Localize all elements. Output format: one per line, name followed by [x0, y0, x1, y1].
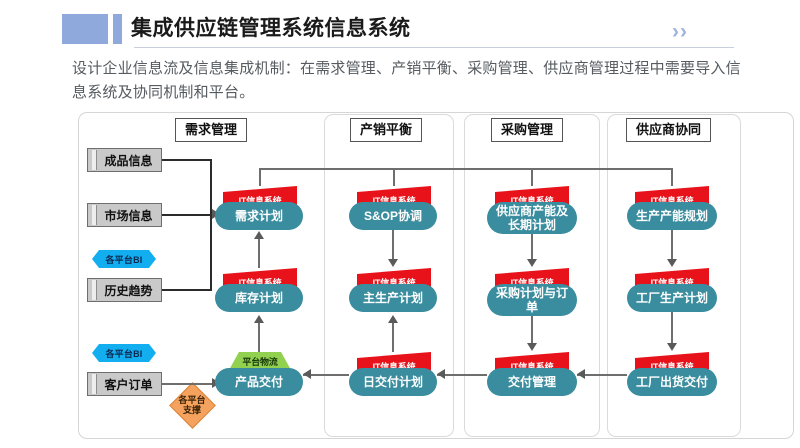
node-label: 需求计划	[215, 202, 303, 230]
node-production-capacity-plan[interactable]: IT信息系统 生产产能规划	[627, 186, 717, 230]
node-label: 供应商产能及长期计划	[487, 202, 577, 234]
node-sop-coordination[interactable]: IT信息系统 S&OP协调	[349, 186, 437, 230]
node-inventory-plan[interactable]: IT信息系统 库存计划	[215, 268, 303, 312]
source-box-finished-goods: 成品信息	[87, 148, 162, 172]
header-accent-block-large	[62, 14, 108, 44]
chevron-right-icon: ››	[672, 21, 688, 42]
support-diamond: 各平台 支撑	[170, 383, 214, 427]
column-header-2: 产销平衡	[350, 118, 422, 142]
node-label: 采购计划与订单	[487, 284, 577, 316]
source-box-history-trend: 历史趋势	[87, 278, 162, 302]
support-diamond-line2: 支撑	[183, 405, 201, 415]
header-divider	[134, 47, 734, 48]
node-label: 产品交付	[215, 368, 303, 396]
node-label: 工厂出货交付	[627, 368, 717, 396]
slide-root: 集成供应链管理系统信息系统 ›› 设计企业信息流及信息集成机制：在需求管理、产销…	[0, 0, 800, 448]
node-product-delivery[interactable]: 平台物流 产品交付	[215, 352, 303, 396]
node-daily-delivery-plan[interactable]: IT信息系统 日交付计划	[349, 352, 437, 396]
node-master-production-plan[interactable]: IT信息系统 主生产计划	[349, 268, 437, 312]
bi-tag-hexagon-1: 各平台BI	[92, 250, 156, 268]
header-accent-block-small	[113, 14, 122, 44]
node-purchase-plan-order[interactable]: IT信息系统 采购计划与订单	[487, 268, 577, 316]
node-label: 库存计划	[215, 284, 303, 312]
column-header-3: 采购管理	[491, 118, 563, 142]
bi-tag-hexagon-2: 各平台BI	[92, 344, 156, 362]
node-label: 交付管理	[487, 368, 577, 396]
subtitle-text: 设计企业信息流及信息集成机制：在需求管理、产销平衡、采购管理、供应商管理过程中需…	[72, 57, 752, 105]
node-label: 主生产计划	[349, 284, 437, 312]
source-box-market-info: 市场信息	[87, 203, 162, 227]
node-factory-shipment-delivery[interactable]: IT信息系统 工厂出货交付	[627, 352, 717, 396]
node-factory-production-plan[interactable]: IT信息系统 工厂生产计划	[627, 268, 717, 312]
node-label: 日交付计划	[349, 368, 437, 396]
page-title: 集成供应链管理系统信息系统	[131, 14, 411, 44]
source-box-customer-order: 客户订单	[87, 372, 162, 396]
support-diamond-line1: 各平台	[178, 395, 205, 405]
column-header-1: 需求管理	[175, 118, 247, 142]
node-label: 工厂生产计划	[627, 284, 717, 312]
node-label: 生产产能规划	[627, 202, 717, 230]
node-delivery-management[interactable]: IT信息系统 交付管理	[487, 352, 577, 396]
node-label: S&OP协调	[349, 202, 437, 230]
node-supplier-capacity-longterm-plan[interactable]: IT信息系统 供应商产能及长期计划	[487, 186, 577, 234]
node-demand-plan[interactable]: IT信息系统 需求计划	[215, 186, 303, 230]
column-header-4: 供应商协同	[626, 118, 711, 142]
